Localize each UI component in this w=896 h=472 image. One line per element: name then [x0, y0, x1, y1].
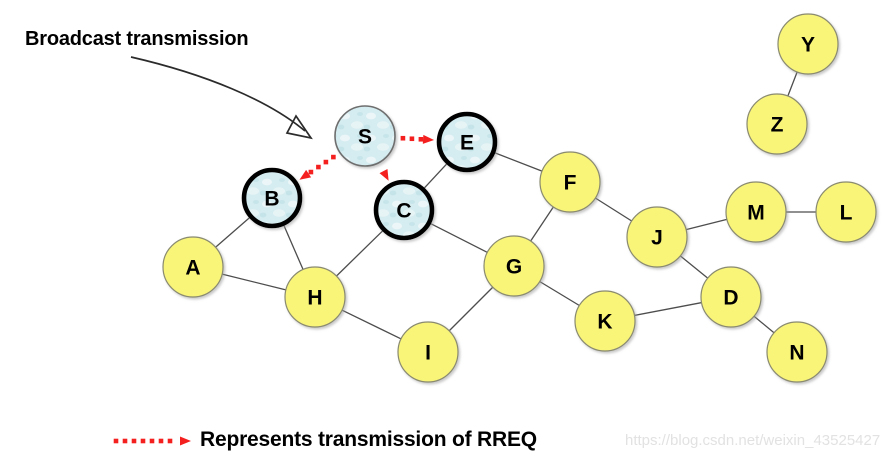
edge-d-n — [753, 316, 774, 334]
node-a[interactable]: A — [163, 237, 223, 297]
edge-c-e — [424, 163, 448, 188]
rreq-dot — [132, 439, 137, 444]
node-circle — [484, 236, 544, 296]
node-texture — [378, 184, 429, 235]
node-c[interactable]: C — [376, 182, 432, 238]
rreq-arrow-s-to-e — [401, 135, 434, 144]
node-circle — [575, 291, 635, 351]
node-circle — [398, 322, 458, 382]
edge-e-f — [494, 152, 543, 171]
nodes-layer: SEBCAHIGFKJDNMLZY — [163, 14, 876, 382]
edge-g-k — [539, 281, 580, 306]
legend-red-dotted-arrow-icon — [114, 437, 191, 446]
edge-k-d — [633, 302, 702, 315]
rreq-dot — [141, 439, 146, 444]
rreq-arrowhead — [423, 135, 434, 144]
node-j[interactable]: J — [627, 207, 687, 267]
node-y[interactable]: Y — [778, 14, 838, 74]
rreq-dot — [331, 155, 336, 160]
node-m[interactable]: M — [726, 182, 786, 242]
node-circle — [778, 14, 838, 74]
node-circle — [747, 94, 807, 154]
node-circle — [726, 182, 786, 242]
rreq-dot — [168, 439, 173, 444]
curved-arrow-icon — [131, 57, 311, 138]
rreq-dot — [419, 137, 424, 142]
node-circle — [285, 267, 345, 327]
rreq-arrowhead — [180, 437, 191, 446]
rreq-dot — [410, 136, 415, 141]
node-b[interactable]: B — [244, 170, 300, 226]
rreq-arrow-s-to-c — [380, 169, 389, 181]
node-s[interactable]: S — [335, 106, 395, 166]
edge-g-f — [530, 206, 554, 242]
edge-h-c — [336, 230, 384, 276]
rreq-dot — [401, 136, 406, 141]
rreq-dot — [123, 439, 128, 444]
node-circle — [627, 207, 687, 267]
edge-f-j — [595, 197, 633, 221]
node-circle — [816, 182, 876, 242]
node-f[interactable]: F — [540, 152, 600, 212]
rreq-arrowhead — [380, 169, 389, 181]
rreq-arrow-s-to-b — [299, 155, 335, 180]
network-graph: SEBCAHIGFKJDNMLZY — [0, 0, 896, 472]
edge-a-b — [215, 217, 250, 248]
node-texture — [246, 172, 297, 223]
node-circle — [701, 267, 761, 327]
edge-j-m — [685, 219, 728, 230]
broadcast-transmission-label: Broadcast transmission — [25, 28, 248, 51]
node-circle — [163, 237, 223, 297]
node-z[interactable]: Z — [747, 94, 807, 154]
edge-a-h — [221, 274, 287, 290]
node-h[interactable]: H — [285, 267, 345, 327]
node-n[interactable]: N — [767, 322, 827, 382]
rreq-dot — [150, 439, 155, 444]
diagram-canvas: SEBCAHIGFKJDNMLZY Broadcast transmission… — [0, 0, 896, 472]
node-e[interactable]: E — [439, 114, 495, 170]
node-circle — [540, 152, 600, 212]
rreq-dot — [114, 439, 119, 444]
edge-c-g — [430, 223, 488, 253]
edge-h-i — [341, 310, 402, 340]
node-i[interactable]: I — [398, 322, 458, 382]
node-texture — [336, 107, 394, 165]
edge-j-d — [680, 255, 709, 278]
edge-b-h — [284, 225, 304, 271]
edge-i-g — [449, 287, 494, 332]
rreq-dot — [309, 170, 314, 175]
rreq-dot — [316, 165, 321, 170]
red-dotted-arrow-icon — [114, 437, 191, 446]
node-k[interactable]: K — [575, 291, 635, 351]
node-circle — [767, 322, 827, 382]
node-d[interactable]: D — [701, 267, 761, 327]
node-texture — [441, 116, 492, 167]
rreq-dot — [159, 439, 164, 444]
rreq-dot — [324, 160, 329, 165]
legend-label: Represents transmission of RREQ — [200, 428, 537, 452]
node-l[interactable]: L — [816, 182, 876, 242]
edge-z-y — [787, 71, 797, 97]
node-g[interactable]: G — [484, 236, 544, 296]
